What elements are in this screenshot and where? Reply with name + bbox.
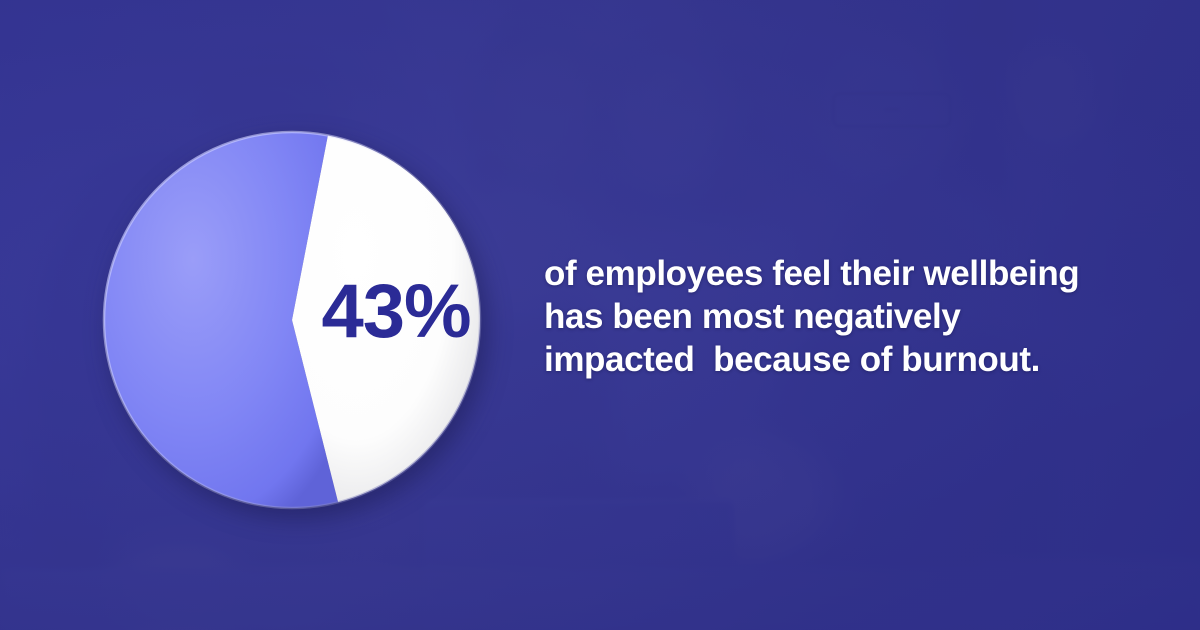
pie-percent-label-wrap: 43% <box>103 130 481 510</box>
statement-line-2: has been most negatively <box>544 295 1104 338</box>
statement-text: of employees feel their wellbeing has be… <box>544 252 1104 381</box>
pie-chart: 43% <box>103 130 481 510</box>
pie-percent-label: 43% <box>321 274 470 350</box>
infographic-canvas: 43% of employees feel their wellbeing ha… <box>0 0 1200 630</box>
statement-line-3: impacted because of burnout. <box>544 338 1104 381</box>
statement-line-1: of employees feel their wellbeing <box>544 252 1104 295</box>
